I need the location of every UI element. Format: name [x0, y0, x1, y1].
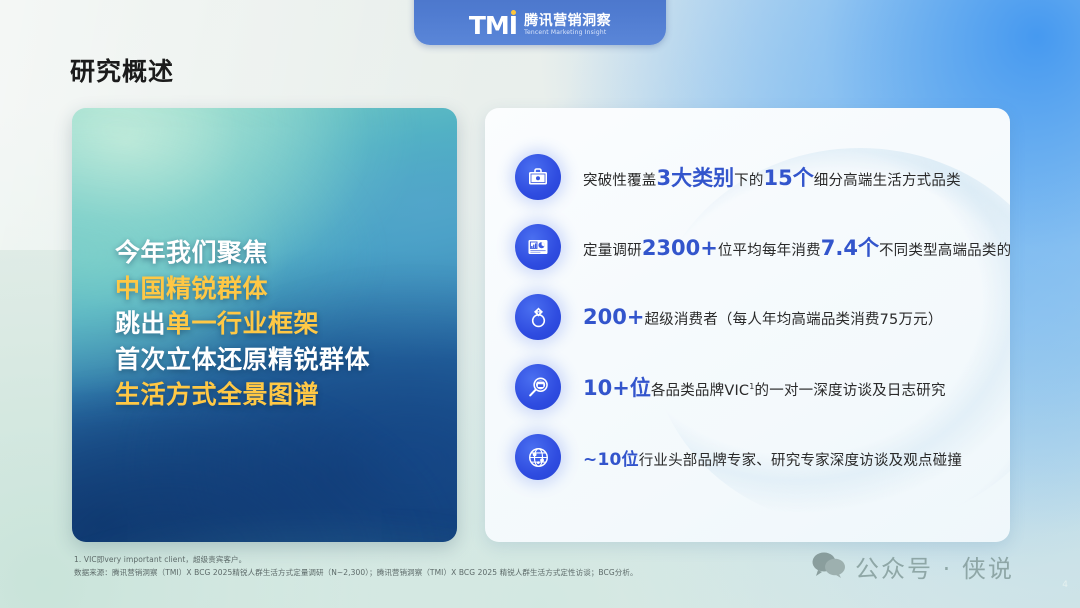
- highlight-item: 200+超级消费者（每人年均高端品类消费75万元）: [515, 282, 986, 352]
- highlight-text: 200+超级消费者（每人年均高端品类消费75万元）: [583, 305, 943, 329]
- highlight-text-segment: 定量调研: [583, 243, 642, 259]
- highlight-text-segment: ~10位: [583, 450, 639, 470]
- panel-headline-segment: 首次立体还原精锐群体: [115, 345, 370, 374]
- highlight-text: ~10位行业头部品牌专家、研究专家深度访谈及观点碰撞: [583, 445, 962, 470]
- panel-headline-line: 中国精锐群体: [115, 271, 447, 307]
- logo-wordmark-text: TMI: [469, 11, 517, 40]
- highlight-text: 突破性覆盖3大类别下的15个细分高端生活方式品类: [583, 162, 961, 192]
- highlight-text-segment: 200+: [583, 305, 644, 329]
- highlight-text-segment: 10+位: [583, 376, 651, 400]
- highlight-text-segment: 15个: [764, 166, 814, 190]
- panel-headline-segment: 跳出: [115, 309, 166, 338]
- highlight-text-segment: 不同类型高端品类的消费者: [879, 243, 1010, 259]
- tmi-logo-badge: TMI 腾讯营销洞察 Tencent Marketing Insight: [414, 0, 666, 45]
- page-number: 4: [1062, 580, 1068, 590]
- footnote-line-2: 数据来源：腾讯营销洞察（TMI）X BCG 2025精锐人群生活方式定量调研（N…: [74, 566, 638, 579]
- highlight-text-segment: 的一对一深度访谈及日志研究: [755, 383, 946, 399]
- highlight-text: 定量调研2300+位平均每年消费7.4个不同类型高端品类的消费者: [583, 232, 1010, 262]
- highlight-text-segment: 3大类别: [657, 166, 735, 190]
- briefcase-icon: [515, 154, 561, 200]
- panel-headline-line: 今年我们聚焦: [115, 235, 447, 271]
- highlight-text: 10+位各品类品牌VIC1的一对一深度访谈及日志研究: [583, 372, 946, 402]
- highlight-text-segment: 2300+: [642, 236, 718, 260]
- highlight-item: 突破性覆盖3大类别下的15个细分高端生活方式品类: [515, 142, 986, 212]
- highlight-item: 10+位各品类品牌VIC1的一对一深度访谈及日志研究: [515, 352, 986, 422]
- page-title: 研究概述: [70, 52, 174, 88]
- logo-english-name: Tencent Marketing Insight: [524, 30, 611, 37]
- panel-headline-line: 首次立体还原精锐群体: [115, 342, 447, 378]
- magnifier-icon: [515, 364, 561, 410]
- panel-headline-segment: 中国精锐群体: [115, 274, 268, 303]
- wechat-watermark: 公众号 · 侠说: [812, 549, 1014, 584]
- highlight-text-segment: 行业头部品牌专家、研究专家深度访谈及观点碰撞: [639, 453, 962, 469]
- highlight-text-segment: 细分高端生活方式品类: [814, 173, 961, 189]
- footnote-block: 1. VIC即very important client，超级贵宾客户。 数据来…: [74, 553, 638, 579]
- panel-headline-segment: 今年我们聚焦: [115, 238, 268, 267]
- panel-headline-line: 跳出单一行业框架: [115, 306, 447, 342]
- watermark-text: 公众号 · 侠说: [855, 549, 1014, 584]
- left-visual-panel: 今年我们聚焦中国精锐群体跳出单一行业框架首次立体还原精锐群体生活方式全景图谱: [72, 108, 457, 542]
- highlight-text-segment: 下的: [734, 173, 763, 189]
- highlight-item: ~10位行业头部品牌专家、研究专家深度访谈及观点碰撞: [515, 422, 986, 492]
- globe-icon: [515, 434, 561, 480]
- slide-canvas: TMI 腾讯营销洞察 Tencent Marketing Insight 研究概…: [0, 0, 1080, 608]
- footnote-line-1: 1. VIC即very important client，超级贵宾客户。: [74, 553, 638, 566]
- logo-wordmark: TMI: [469, 13, 517, 38]
- highlight-text-segment: 突破性覆盖: [583, 173, 657, 189]
- panel-headline-segment: 生活方式全景图谱: [115, 380, 319, 409]
- highlight-text-segment: 7.4个: [821, 236, 879, 260]
- panel-headline-segment: 单一行业框架: [166, 309, 319, 338]
- highlight-item: 定量调研2300+位平均每年消费7.4个不同类型高端品类的消费者: [515, 212, 986, 282]
- panel-headline: 今年我们聚焦中国精锐群体跳出单一行业框架首次立体还原精锐群体生活方式全景图谱: [115, 235, 447, 413]
- highlights-list: 突破性覆盖3大类别下的15个细分高端生活方式品类定量调研2300+位平均每年消费…: [485, 108, 1010, 542]
- logo-chinese-name: 腾讯营销洞察: [524, 14, 611, 29]
- highlights-card: 突破性覆盖3大类别下的15个细分高端生活方式品类定量调研2300+位平均每年消费…: [485, 108, 1010, 542]
- panel-headline-line: 生活方式全景图谱: [115, 377, 447, 413]
- wechat-icon: [812, 552, 846, 582]
- diamond-ring-icon: [515, 294, 561, 340]
- highlight-text-segment: 各品类品牌VIC: [651, 383, 749, 399]
- dashboard-chart-icon: [515, 224, 561, 270]
- highlight-text-segment: 超级消费者（每人年均高端品类消费75万元）: [644, 312, 942, 328]
- highlight-text-segment: 位平均每年消费: [718, 243, 821, 259]
